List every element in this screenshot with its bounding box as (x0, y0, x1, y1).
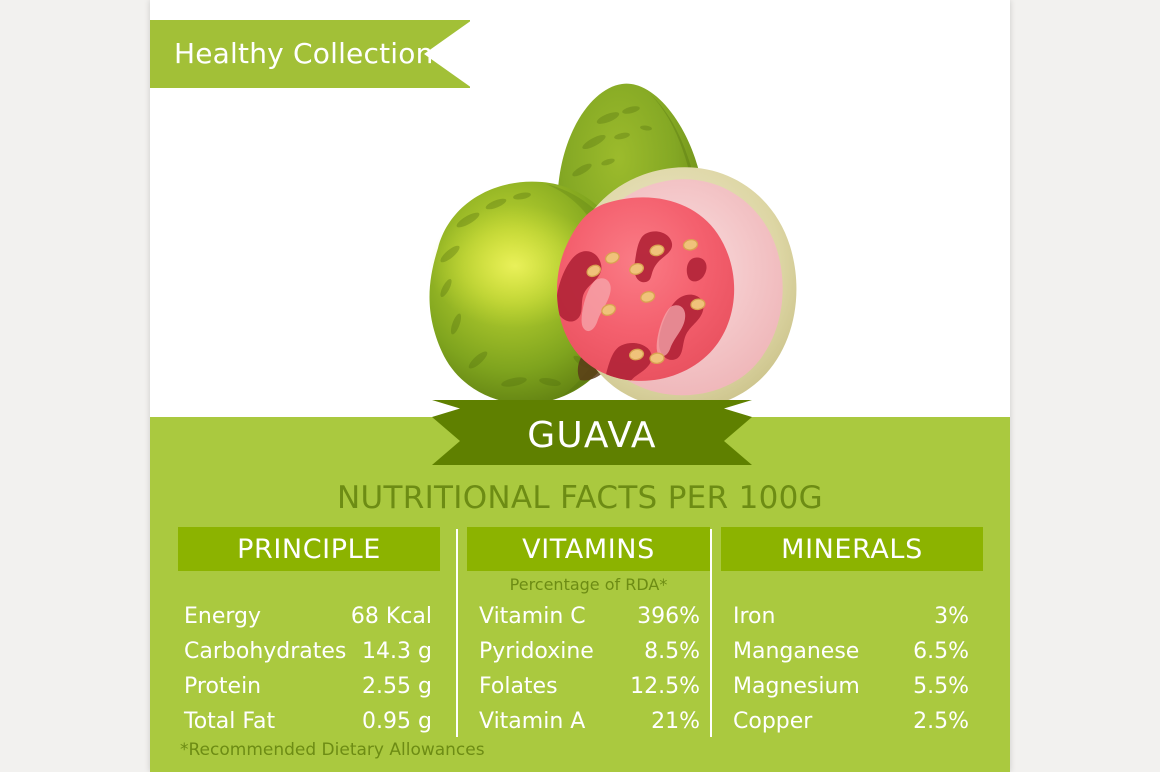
table-row: Manganese 6.5% (733, 634, 969, 669)
nutrient-label: Folates (479, 669, 558, 704)
column-vitamins: VITAMINS Percentage of RDA* Vitamin C 39… (467, 527, 710, 772)
table-row: Magnesium 5.5% (733, 669, 969, 704)
column-minerals: MINERALS Iron 3% Manganese 6.5% Magnesiu… (721, 527, 983, 772)
table-row: Pyridoxine 8.5% (479, 634, 700, 669)
rows-minerals: Iron 3% Manganese 6.5% Magnesium 5.5% Co… (721, 599, 983, 739)
nutrient-value: 6.5% (913, 634, 969, 669)
table-row: Carbohydrates 14.3 g (184, 634, 432, 669)
nutrient-label: Total Fat (184, 704, 275, 739)
nutrient-label: Carbohydrates (184, 634, 346, 669)
column-header-minerals: MINERALS (721, 527, 983, 571)
guava-title: GUAVA (432, 400, 752, 465)
guava-fruit-illustration (350, 70, 820, 420)
column-header-principle-label: PRINCIPLE (237, 534, 381, 565)
nutrition-columns: PRINCIPLE Energy 68 Kcal Carbohydrates 1… (150, 527, 1010, 772)
rda-footnote: *Recommended Dietary Allowances (180, 740, 485, 760)
table-row: Protein 2.55 g (184, 669, 432, 704)
infographic-screen: Healthy Collection (0, 0, 1160, 772)
column-principle: PRINCIPLE Energy 68 Kcal Carbohydrates 1… (178, 527, 440, 772)
column-header-minerals-label: MINERALS (781, 534, 923, 565)
nutrient-value: 14.3 g (362, 634, 432, 669)
table-row: Folates 12.5% (479, 669, 700, 704)
nutrient-value: 21% (651, 704, 700, 739)
column-header-vitamins-label: VITAMINS (522, 534, 655, 565)
nutrient-label: Copper (733, 704, 812, 739)
nutrient-label: Magnesium (733, 669, 860, 704)
column-header-principle: PRINCIPLE (178, 527, 440, 571)
table-row: Copper 2.5% (733, 704, 969, 739)
nutrient-value: 2.5% (913, 704, 969, 739)
nutrient-value: 0.95 g (362, 704, 432, 739)
column-divider-1 (456, 529, 458, 737)
nutrient-value: 5.5% (913, 669, 969, 704)
column-divider-2 (710, 529, 712, 737)
nutrient-label: Vitamin C (479, 599, 586, 634)
infographic-card: Healthy Collection (150, 0, 1010, 772)
nutrient-value: 8.5% (644, 634, 700, 669)
table-row: Energy 68 Kcal (184, 599, 432, 634)
nutrient-value: 12.5% (630, 669, 700, 704)
rows-vitamins: Vitamin C 396% Pyridoxine 8.5% Folates 1… (467, 599, 710, 739)
nutritional-facts-heading: NUTRITIONAL FACTS PER 100G (150, 480, 1010, 516)
nutrient-label: Energy (184, 599, 261, 634)
table-row: Total Fat 0.95 g (184, 704, 432, 739)
nutrient-value: 396% (637, 599, 700, 634)
table-row: Iron 3% (733, 599, 969, 634)
nutrient-label: Manganese (733, 634, 859, 669)
column-header-vitamins: VITAMINS (467, 527, 710, 571)
nutrient-label: Iron (733, 599, 775, 634)
table-row: Vitamin C 396% (479, 599, 700, 634)
table-row: Vitamin A 21% (479, 704, 700, 739)
nutrient-label: Protein (184, 669, 261, 704)
rows-principle: Energy 68 Kcal Carbohydrates 14.3 g Prot… (178, 599, 440, 739)
nutrient-value: 2.55 g (362, 669, 432, 704)
column-subtitle-vitamins: Percentage of RDA* (467, 575, 710, 595)
guava-name-ribbon: GUAVA (432, 400, 752, 465)
nutrient-label: Pyridoxine (479, 634, 594, 669)
nutrient-value: 68 Kcal (351, 599, 432, 634)
nutrient-label: Vitamin A (479, 704, 585, 739)
nutrient-value: 3% (934, 599, 969, 634)
